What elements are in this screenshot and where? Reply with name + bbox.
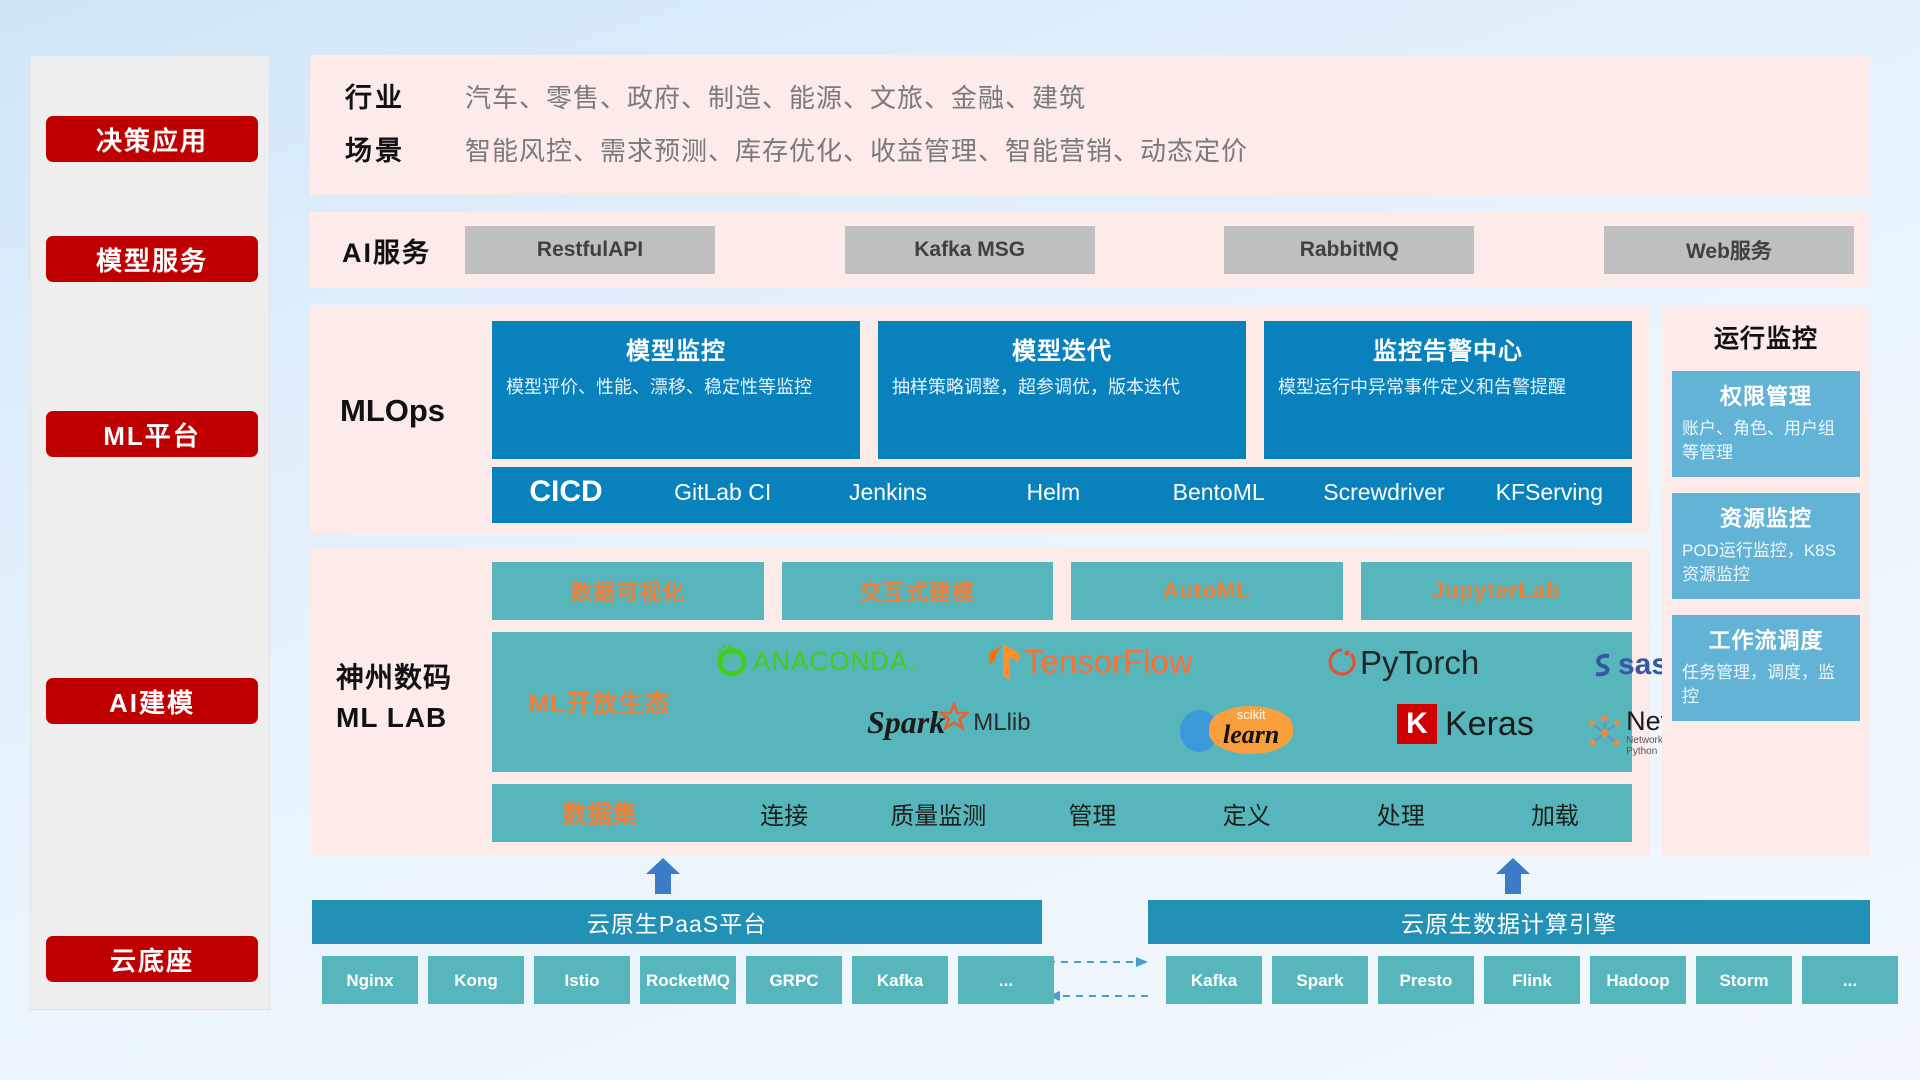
mlops-band: MLOps 模型监控 模型评价、性能、漂移、稳定性等监控 模型迭代 抽样策略调整… — [310, 305, 1650, 533]
dataset-process[interactable]: 处理 — [1324, 796, 1478, 831]
paas-chip-istio[interactable]: Istio — [534, 956, 630, 1004]
decision-app-labels: 行业 场景 — [310, 72, 465, 178]
engine-chip-presto[interactable]: Presto — [1378, 956, 1474, 1004]
cicd-kfserving[interactable]: KFServing — [1467, 467, 1632, 505]
card-desc: 模型运行中异常事件定义和告警提醒 — [1278, 374, 1618, 400]
card-desc: 抽样策略调整，超参调优，版本迭代 — [892, 374, 1232, 400]
tensorflow-logo: TensorFlow — [987, 642, 1193, 682]
card-title: 资源监控 — [1682, 501, 1850, 533]
card-desc: POD运行监控，K8S资源监控 — [1682, 539, 1850, 587]
sas-mark-icon — [1587, 650, 1617, 680]
ml-lab-tools: 数据可视化 交互式建模 AutoML JupyterLab — [492, 562, 1632, 620]
run-monitor-title: 运行监控 — [1662, 305, 1870, 355]
cicd-label: CICD — [492, 467, 640, 509]
keras-logo: K Keras — [1397, 704, 1534, 744]
paas-chip-nginx[interactable]: Nginx — [322, 956, 418, 1004]
run-monitor-panel: 运行监控 权限管理 账户、角色、用户组等管理 资源监控 POD运行监控，K8S资… — [1662, 305, 1870, 856]
monitor-card-resource[interactable]: 资源监控 POD运行监控，K8S资源监控 — [1672, 493, 1860, 599]
keras-mark-icon: K — [1397, 704, 1437, 744]
arrow-up-engine-icon — [1496, 858, 1530, 894]
anaconda-mark-icon — [715, 644, 749, 678]
dataset-connect[interactable]: 连接 — [707, 796, 861, 831]
mlops-label: MLOps — [340, 393, 445, 429]
tool-interactive-modeling[interactable]: 交互式建模 — [782, 562, 1054, 620]
sas-logo: sas — [1587, 648, 1668, 682]
dataset-define[interactable]: 定义 — [1170, 796, 1324, 831]
card-desc: 模型评价、性能、漂移、稳定性等监控 — [506, 374, 846, 400]
paas-chip-kafka[interactable]: Kafka — [852, 956, 948, 1004]
ai-service-band: AI服务 RestfulAPI Kafka MSG RabbitMQ Web服务 — [310, 212, 1870, 288]
arrow-up-paas-icon — [646, 858, 680, 894]
left-layer-rail: 决策应用 模型服务 ML平台 AI建模 云底座 — [30, 55, 270, 1010]
card-title: 监控告警中心 — [1278, 331, 1618, 366]
rail-label: ML平台 — [103, 416, 201, 453]
scikit-orange-blob-icon: scikit learn — [1209, 706, 1293, 754]
ai-service-items: RestfulAPI Kafka MSG RabbitMQ Web服务 — [465, 226, 1870, 274]
service-rabbitmq[interactable]: RabbitMQ — [1224, 226, 1474, 274]
paas-engine-link-icon — [1046, 952, 1150, 1010]
card-title: 模型监控 — [506, 331, 846, 366]
cicd-helm[interactable]: Helm — [971, 467, 1136, 505]
rail-item-ml-platform[interactable]: ML平台 — [46, 411, 258, 457]
scikit-learn-wordmark: learn — [1223, 722, 1279, 748]
service-restfulapi[interactable]: RestfulAPI — [465, 226, 715, 274]
mlops-cards: 模型监控 模型评价、性能、漂移、稳定性等监控 模型迭代 抽样策略调整，超参调优，… — [492, 321, 1632, 459]
anaconda-wordmark: ANACONDA. — [753, 646, 917, 677]
ml-lab-label-line1: 神州数码 — [336, 658, 452, 698]
rail-label: 决策应用 — [96, 121, 208, 158]
scikit-learn-logo: scikit learn — [1177, 706, 1293, 754]
dataset-quality[interactable]: 质量监测 — [861, 796, 1015, 831]
engine-chip-hadoop[interactable]: Hadoop — [1590, 956, 1686, 1004]
dataset-row: 数据集 连接 质量监测 管理 定义 处理 加载 — [492, 784, 1632, 842]
service-web[interactable]: Web服务 — [1604, 226, 1854, 274]
card-title: 权限管理 — [1682, 379, 1850, 411]
card-title: 工作流调度 — [1682, 623, 1850, 655]
tool-jupyterlab[interactable]: JupyterLab — [1361, 562, 1633, 620]
rail-item-cloud-base[interactable]: 云底座 — [46, 936, 258, 982]
decision-app-values: 汽车、零售、政府、制造、能源、文旅、金融、建筑 智能风控、需求预测、库存优化、收… — [465, 72, 1248, 178]
card-desc: 账户、角色、用户组等管理 — [1682, 417, 1850, 465]
cicd-screwdriver[interactable]: Screwdriver — [1301, 467, 1466, 505]
engine-chip-row: Kafka Spark Presto Flink Hadoop Storm ..… — [1166, 956, 1898, 1004]
engine-title: 云原生数据计算引擎 — [1401, 905, 1617, 939]
card-desc: 任务管理，调度，监控 — [1682, 661, 1850, 709]
cicd-gitlab-ci[interactable]: GitLab CI — [640, 467, 805, 505]
ml-lab-label-line2: ML LAB — [336, 698, 452, 738]
anaconda-logo: ANACONDA. — [715, 644, 917, 678]
engine-chip-spark[interactable]: Spark — [1272, 956, 1368, 1004]
rail-item-model-service[interactable]: 模型服务 — [46, 236, 258, 282]
monitor-card-workflow[interactable]: 工作流调度 任务管理，调度，监控 — [1672, 615, 1860, 721]
paas-chip-rocketmq[interactable]: RocketMQ — [640, 956, 736, 1004]
rail-label: AI建模 — [109, 683, 195, 720]
paas-chip-more[interactable]: ... — [958, 956, 1054, 1004]
industry-label: 行业 — [345, 72, 465, 125]
decision-app-band: 行业 场景 汽车、零售、政府、制造、能源、文旅、金融、建筑 智能风控、需求预测、… — [310, 55, 1870, 195]
mlops-card-model-iteration[interactable]: 模型迭代 抽样策略调整，超参调优，版本迭代 — [878, 321, 1246, 459]
pytorch-mark-icon — [1327, 646, 1357, 680]
spark-mllib-logo: Spark MLlib — [867, 704, 1031, 741]
tool-data-visualization[interactable]: 数据可视化 — [492, 562, 764, 620]
rail-item-decision-app[interactable]: 决策应用 — [46, 116, 258, 162]
paas-chip-grpc[interactable]: GRPC — [746, 956, 842, 1004]
service-kafka-msg[interactable]: Kafka MSG — [845, 226, 1095, 274]
ml-lab-label: 神州数码 ML LAB — [336, 658, 452, 738]
scenario-value: 智能风控、需求预测、库存优化、收益管理、智能营销、动态定价 — [465, 125, 1248, 178]
paas-chip-row: Nginx Kong Istio RocketMQ GRPC Kafka ... — [322, 956, 1054, 1004]
architecture-diagram: 决策应用 模型服务 ML平台 AI建模 云底座 行业 场景 汽车、零售、政府、制… — [0, 0, 1920, 1080]
rail-label: 云底座 — [110, 941, 194, 978]
spark-star-icon — [939, 702, 969, 732]
paas-title: 云原生PaaS平台 — [587, 905, 767, 939]
ml-ecosystem-title: ML开放生态 — [492, 684, 707, 720]
pytorch-wordmark: PyTorch — [1360, 644, 1479, 682]
ml-lab-band: 神州数码 ML LAB 数据可视化 交互式建模 AutoML JupyterLa… — [310, 548, 1650, 856]
engine-chip-storm[interactable]: Storm — [1696, 956, 1792, 1004]
data-engine-bar[interactable]: 云原生数据计算引擎 — [1148, 900, 1870, 944]
pytorch-logo: PyTorch — [1327, 644, 1479, 682]
card-title: 模型迭代 — [892, 331, 1232, 366]
networkx-mark-icon — [1587, 715, 1622, 751]
mlops-card-alert-center[interactable]: 监控告警中心 模型运行中异常事件定义和告警提醒 — [1264, 321, 1632, 459]
cicd-row: CICD GitLab CI Jenkins Helm BentoML Scre… — [492, 467, 1632, 523]
dataset-load[interactable]: 加载 — [1478, 796, 1632, 831]
paas-platform-bar[interactable]: 云原生PaaS平台 — [312, 900, 1042, 944]
ml-ecosystem-row: ML开放生态 ANACONDA. TensorFlow — [492, 632, 1632, 772]
mlops-card-model-monitoring[interactable]: 模型监控 模型评价、性能、漂移、稳定性等监控 — [492, 321, 860, 459]
dataset-manage[interactable]: 管理 — [1015, 796, 1169, 831]
engine-chip-kafka[interactable]: Kafka — [1166, 956, 1262, 1004]
tensorflow-mark-icon — [987, 642, 1021, 682]
cicd-bentoml[interactable]: BentoML — [1136, 467, 1301, 505]
tool-automl[interactable]: AutoML — [1071, 562, 1343, 620]
ml-ecosystem-logos: ANACONDA. TensorFlow PyTorch — [707, 632, 1632, 772]
scenario-label: 场景 — [345, 125, 465, 178]
monitor-card-permission[interactable]: 权限管理 账户、角色、用户组等管理 — [1672, 371, 1860, 477]
industry-value: 汽车、零售、政府、制造、能源、文旅、金融、建筑 — [465, 72, 1248, 125]
rail-label: 模型服务 — [96, 241, 208, 278]
paas-chip-kong[interactable]: Kong — [428, 956, 524, 1004]
engine-chip-more[interactable]: ... — [1802, 956, 1898, 1004]
cicd-jenkins[interactable]: Jenkins — [805, 467, 970, 505]
keras-wordmark: Keras — [1445, 705, 1534, 744]
rail-item-ai-modeling[interactable]: AI建模 — [46, 678, 258, 724]
engine-chip-flink[interactable]: Flink — [1484, 956, 1580, 1004]
sas-wordmark: sas — [1618, 648, 1668, 682]
ai-service-label: AI服务 — [310, 231, 465, 270]
tensorflow-wordmark: TensorFlow — [1024, 643, 1193, 681]
dataset-label: 数据集 — [492, 795, 707, 831]
